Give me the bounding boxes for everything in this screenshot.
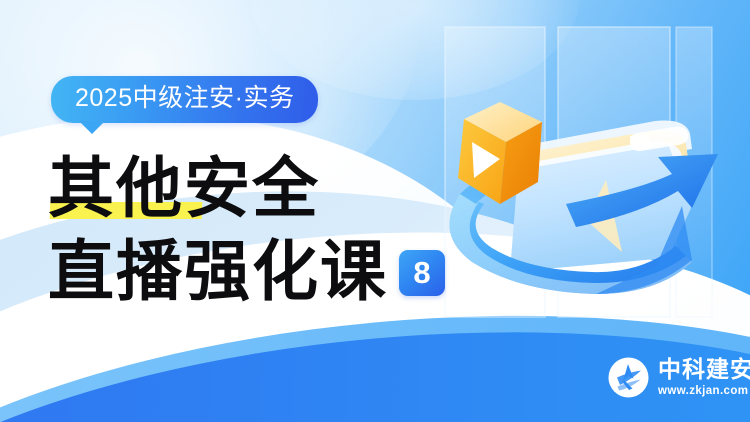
folder-illustration: [400, 0, 750, 344]
course-subject-badge: 2025中级注安·实务: [51, 76, 318, 123]
course-subject-pill: 2025中级注安·实务: [51, 76, 318, 123]
headline-line-1-text: 其他安全: [48, 152, 320, 227]
brand-name: 中科建安: [658, 358, 750, 381]
course-promo-banner: 2025中级注安·实务 其他安全 直播强化课 8 中科建安 www.zkj: [0, 0, 750, 422]
headline-line-2: 直播强化课 8: [48, 235, 445, 310]
zkjan-circle-logo-icon: [608, 357, 649, 398]
brand-logo: 中科建安 www.zkjan.com: [608, 357, 750, 398]
brand-url: www.zkjan.com: [658, 386, 750, 398]
page-title: 其他安全 直播强化课 8: [48, 152, 445, 310]
episode-number-badge: 8: [399, 250, 445, 296]
course-subject-label: 2025中级注安·实务: [75, 84, 294, 112]
brand-logo-text: 中科建安 www.zkjan.com: [658, 358, 750, 398]
headline-line-1: 其他安全: [48, 152, 445, 227]
pill-tail-icon: [79, 121, 105, 134]
headline-line-2-text: 直播强化课: [48, 235, 388, 310]
